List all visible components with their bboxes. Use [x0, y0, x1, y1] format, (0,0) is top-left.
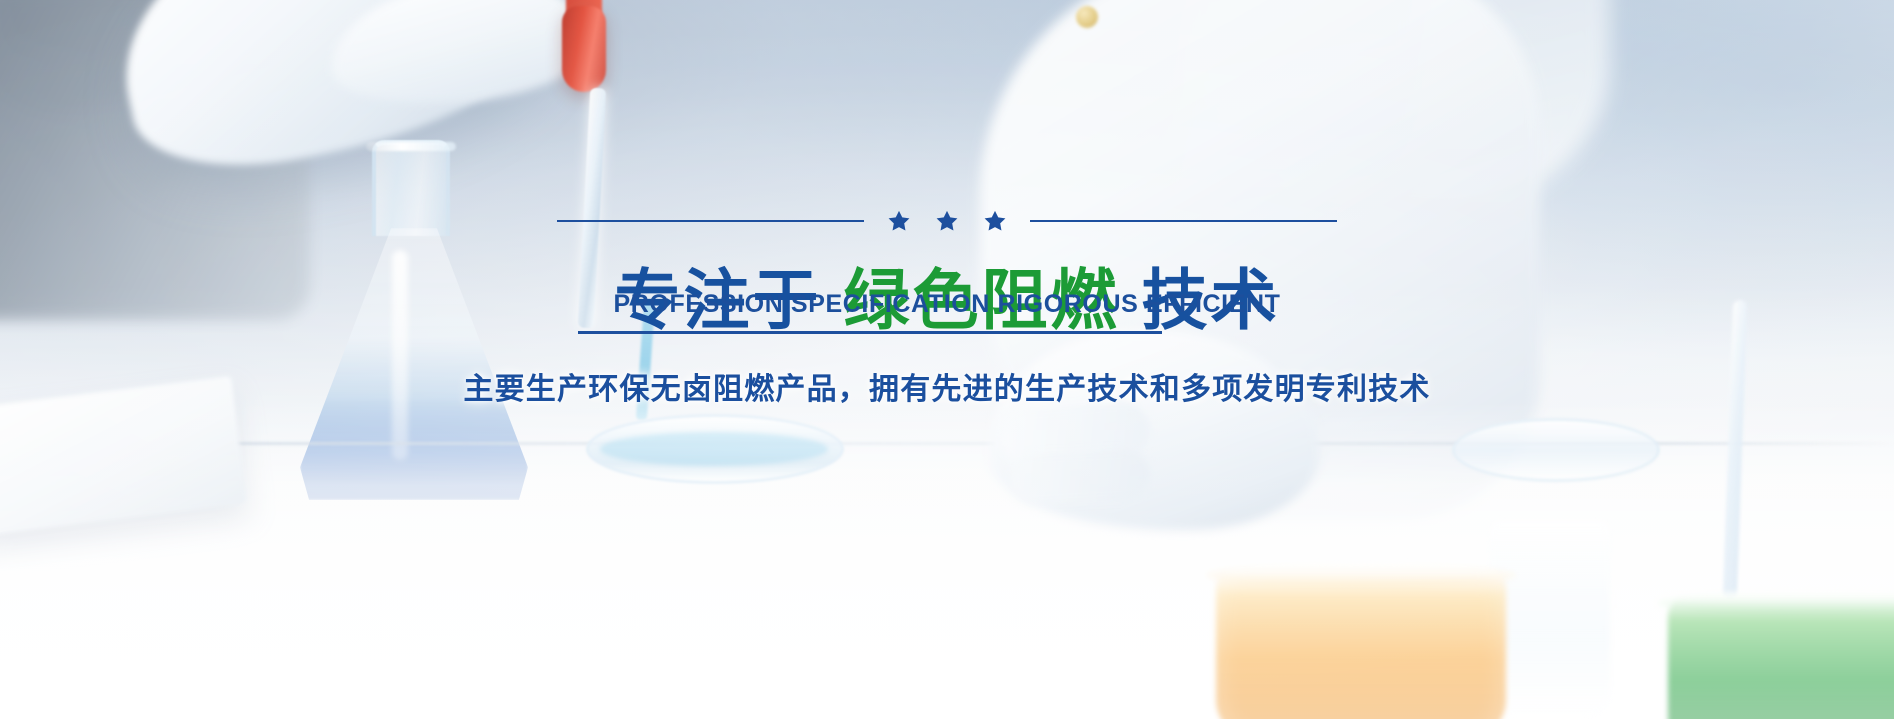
banner-content: 专注于绿色阻燃技术 PROFESSION SPECIFICATION RIGOR… [0, 0, 1894, 719]
star-icon [934, 208, 960, 234]
headline-underline [578, 331, 1162, 334]
subtitle-english: PROFESSION SPECIFICATION RIGOROUS EFFICI… [0, 290, 1894, 319]
star-icon [982, 208, 1008, 234]
hero-banner: 专注于绿色阻燃技术 PROFESSION SPECIFICATION RIGOR… [0, 0, 1894, 719]
ornament-star-group [864, 208, 1030, 234]
star-icon [886, 208, 912, 234]
banner-description: 主要生产环保无卤阻燃产品，拥有先进的生产技术和多项发明专利技术 [0, 364, 1894, 408]
ornament-divider [0, 208, 1894, 234]
ornament-rule-left [557, 220, 864, 222]
ornament-rule-right [1030, 220, 1337, 222]
